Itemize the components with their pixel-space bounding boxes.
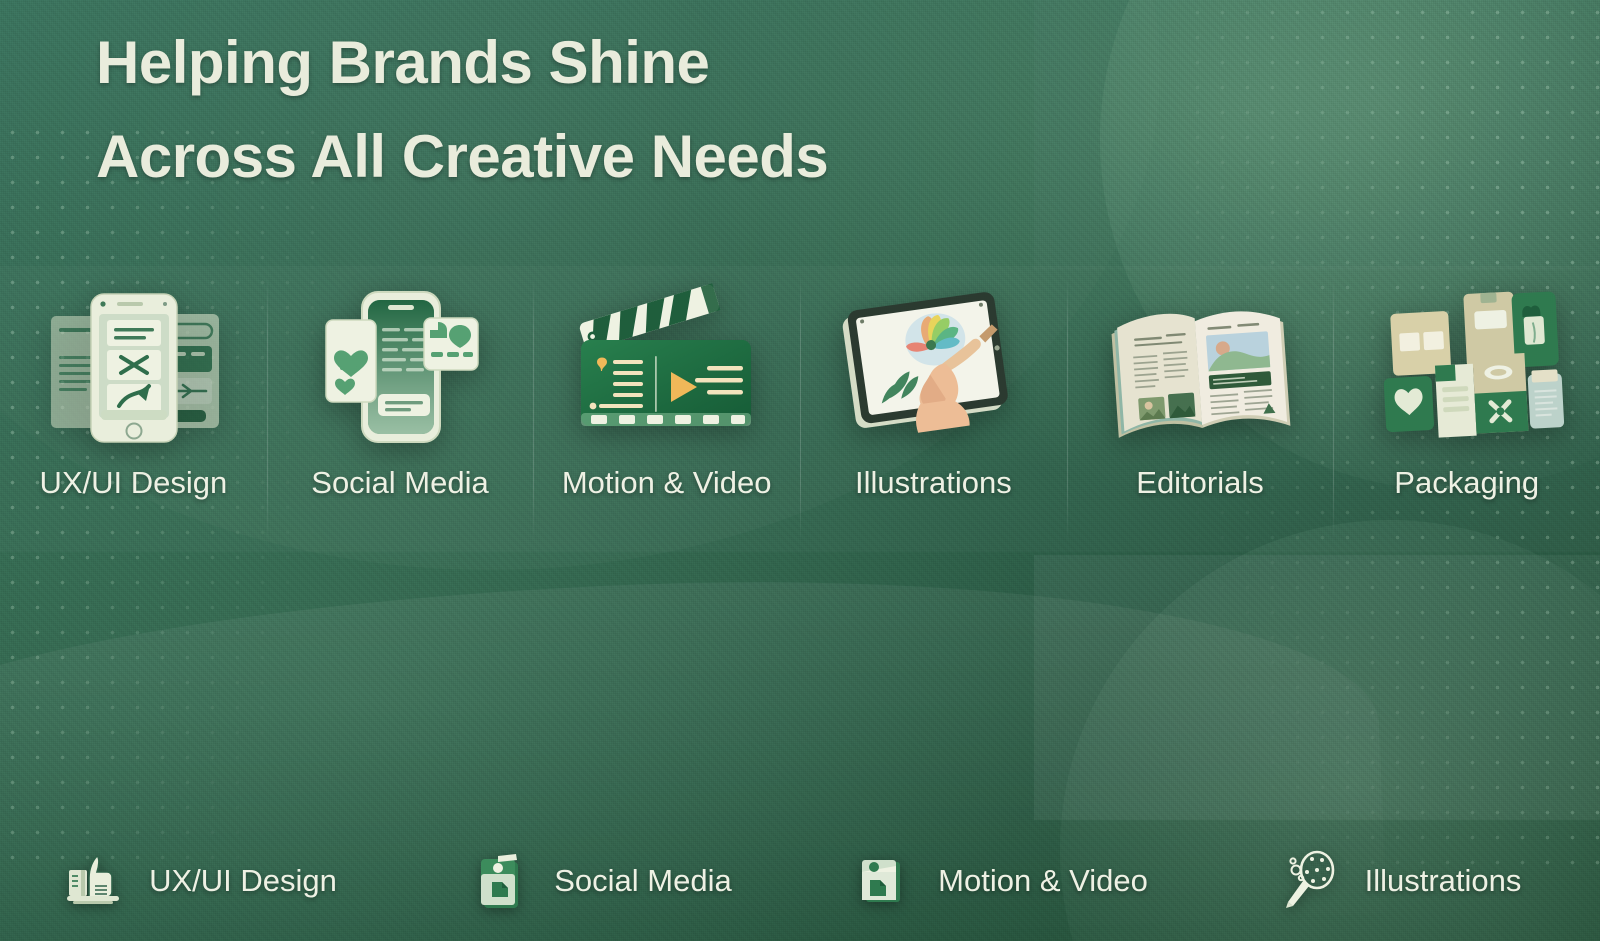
legend-item-motion-video[interactable]: Motion & Video [800, 848, 1200, 914]
palette-magnifier-icon [1279, 848, 1345, 914]
legend-item-label: UX/UI Design [149, 862, 337, 900]
category-card-ux-ui-design[interactable]: UX/UI Design [0, 266, 267, 552]
ux-ui-wireframe-phone-icon [33, 282, 233, 450]
social-cards-stack-icon [468, 848, 534, 914]
page-title: Helping Brands Shine Across All Creative… [96, 16, 1096, 204]
legend-item-illustrations[interactable]: Illustrations [1200, 848, 1600, 914]
legend-item-social-media[interactable]: Social Media [400, 848, 800, 914]
page-title-line-1: Helping Brands Shine [96, 16, 1096, 110]
legend-item-label: Motion & Video [938, 862, 1148, 900]
category-card-label: Packaging [1394, 464, 1539, 502]
category-card-packaging[interactable]: Packaging [1333, 266, 1600, 552]
category-card-label: Motion & Video [562, 464, 772, 502]
page-title-line-2: Across All Creative Needs [96, 110, 1096, 204]
open-magazine-icon [1100, 282, 1300, 450]
tablet-stylus-drawing-icon [833, 282, 1033, 450]
category-card-label: Social Media [311, 464, 488, 502]
legend-item-ux-ui-design[interactable]: UX/UI Design [0, 848, 400, 914]
category-card-editorials[interactable]: Editorials [1067, 266, 1334, 552]
category-card-label: Editorials [1136, 464, 1264, 502]
category-card-motion-video[interactable]: Motion & Video [533, 266, 800, 552]
category-card-row: UX/UI Design [0, 266, 1600, 552]
social-media-phone-hearts-icon [300, 282, 500, 450]
slide-canvas: Helping Brands Shine Across All Creative… [0, 0, 1600, 941]
category-card-social-media[interactable]: Social Media [267, 266, 534, 552]
legend-item-label: Social Media [554, 862, 731, 900]
laptop-hand-pen-icon [63, 848, 129, 914]
category-card-label: Illustrations [855, 464, 1012, 502]
category-card-illustrations[interactable]: Illustrations [800, 266, 1067, 552]
bottom-legend-row: UX/UI Design Social Media [0, 820, 1600, 941]
clapperboard-play-icon [567, 282, 767, 450]
category-card-label: UX/UI Design [39, 464, 227, 502]
legend-item-label: Illustrations [1365, 862, 1522, 900]
media-frames-icon [852, 848, 918, 914]
packaging-boxes-icon [1367, 282, 1567, 450]
